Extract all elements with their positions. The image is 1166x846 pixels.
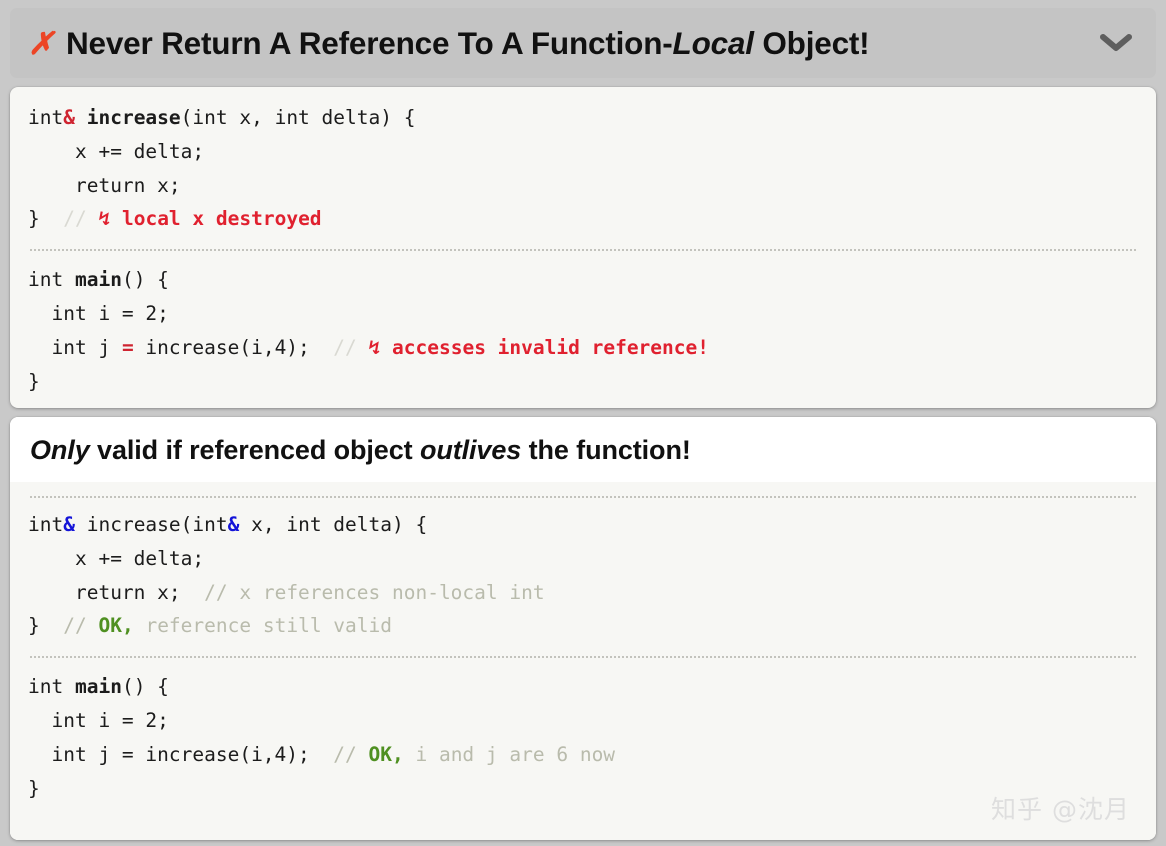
subtitle-part-2: valid if referenced object xyxy=(90,435,420,465)
good-example-code-area: int& increase(int& x, int delta) { x += … xyxy=(10,482,1156,840)
code-section-divider xyxy=(30,656,1136,658)
page-title-part-1: Never Return A Reference To A Function- xyxy=(66,25,673,61)
token-decl-j: int j = increase(i,4); xyxy=(51,743,309,766)
token-comment-note: x references non-local int xyxy=(239,581,544,604)
token-main-return-type: int xyxy=(28,268,63,291)
token-comment-warning: local x destroyed xyxy=(122,207,322,230)
token-closing-brace: } xyxy=(28,207,40,230)
token-decl-j-equals: = xyxy=(122,336,134,359)
subtitle: Only valid if referenced object outlives… xyxy=(30,435,1136,466)
token-function-name: increase xyxy=(87,106,181,129)
token-main-comment-slashes: // xyxy=(333,336,356,359)
page-title-part-3: Object! xyxy=(754,25,870,61)
token-decl-i: int i = 2; xyxy=(51,709,168,732)
token-return-type: int xyxy=(28,513,63,536)
lightning-bolt-icon: ↯ xyxy=(98,207,110,230)
token-main-comment-note: i and j are 6 now xyxy=(415,743,615,766)
token-body-line-1: x += delta; xyxy=(75,140,204,163)
bad-main-code-block: int main() { int i = 2; int j = increase… xyxy=(28,263,1138,398)
token-closing-brace: } xyxy=(28,614,40,637)
token-comment-slashes: // xyxy=(204,581,227,604)
token-return-type: int xyxy=(28,106,63,129)
slide-title-bar: ✗ Never Return A Reference To A Function… xyxy=(10,8,1156,78)
token-params: (int x, int delta) { xyxy=(181,106,416,129)
token-comment-2-slashes: // xyxy=(63,614,86,637)
good-function-code-block: int& increase(int& x, int delta) { x += … xyxy=(28,508,1138,643)
token-main-closing-brace: } xyxy=(28,777,40,800)
slide-root: ✗ Never Return A Reference To A Function… xyxy=(0,0,1166,846)
token-main-params: () { xyxy=(122,675,169,698)
token-main-name: main xyxy=(75,675,122,698)
subtitle-part-3: outlives xyxy=(420,435,521,465)
token-decl-i: int i = 2; xyxy=(51,302,168,325)
token-main-closing-brace: } xyxy=(28,370,40,393)
token-body-line-2: return x; xyxy=(75,581,181,604)
token-comment-ok-badge: OK, xyxy=(98,614,133,637)
bad-function-code-block: int& increase(int x, int delta) { x += d… xyxy=(28,101,1138,236)
token-decl-j-pre: int j xyxy=(51,336,121,359)
token-main-params: () { xyxy=(122,268,169,291)
token-ampersand: & xyxy=(63,513,75,536)
cross-mark-icon: ✗ xyxy=(28,26,54,60)
token-main-comment-ok-badge: OK, xyxy=(368,743,403,766)
subtitle-divider xyxy=(30,496,1136,498)
token-decl-j-post: increase(i,4); xyxy=(134,336,310,359)
code-section-divider xyxy=(30,249,1136,251)
token-function-name: increase xyxy=(87,513,181,536)
token-param-ampersand: & xyxy=(228,513,240,536)
token-comment-2-note: reference still valid xyxy=(145,614,392,637)
token-params-pre: (int xyxy=(181,513,228,536)
chevron-down-icon[interactable] xyxy=(1096,23,1136,63)
page-title-part-2: Local xyxy=(673,25,754,61)
token-main-return-type: int xyxy=(28,675,63,698)
token-comment-slashes: // xyxy=(63,207,86,230)
token-body-line-2: return x; xyxy=(75,174,181,197)
token-main-name: main xyxy=(75,268,122,291)
good-example-header: Only valid if referenced object outlives… xyxy=(10,417,1156,482)
token-main-comment-warning: accesses invalid reference! xyxy=(392,336,709,359)
bad-example-card: int& increase(int x, int delta) { x += d… xyxy=(10,87,1156,408)
watermark: 知乎 @沈月 xyxy=(991,790,1130,826)
subtitle-part-4: the function! xyxy=(521,435,691,465)
good-example-card: Only valid if referenced object outlives… xyxy=(10,417,1156,840)
token-params-post: x, int delta) { xyxy=(239,513,427,536)
good-main-code-block: int main() { int i = 2; int j = increase… xyxy=(28,670,1138,805)
lightning-bolt-icon: ↯ xyxy=(369,336,381,359)
token-body-line-1: x += delta; xyxy=(75,547,204,570)
subtitle-part-1: Only xyxy=(30,435,90,465)
page-title: Never Return A Reference To A Function-L… xyxy=(66,26,1096,61)
token-ampersand: & xyxy=(63,106,75,129)
token-main-comment-slashes: // xyxy=(333,743,356,766)
